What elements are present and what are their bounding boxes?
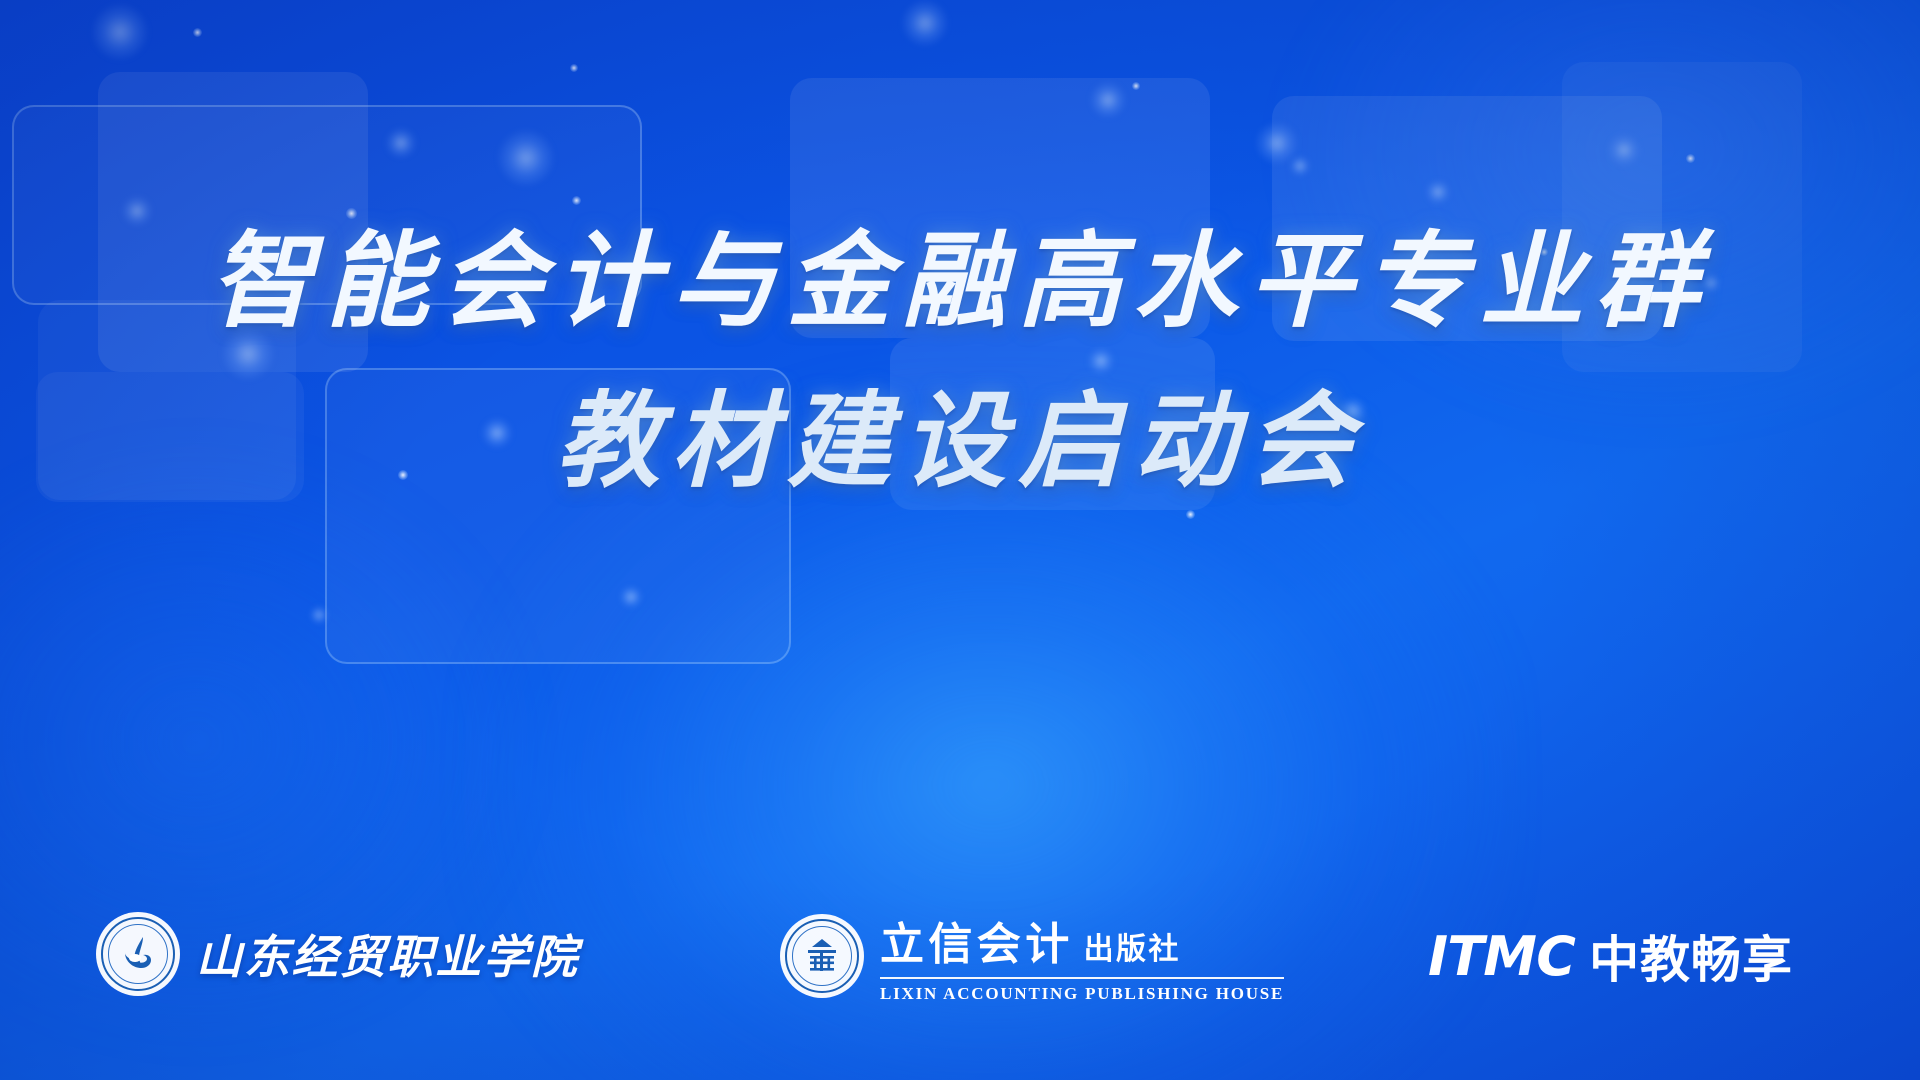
lixin-press-seal-icon xyxy=(780,914,864,998)
page-title: 智能会计与金融高水平专业群 教材建设启动会 xyxy=(0,218,1920,508)
logo-itmc-mark: ITMC xyxy=(1428,925,1575,988)
title-slide: 智能会计与金融高水平专业群 教材建设启动会 山东经贸职业学院 xyxy=(0,0,1920,1080)
logo-press-name-cn: 立信会计 出版社 xyxy=(880,908,1284,972)
logo-itmc: ITMC 中教畅享 xyxy=(1428,920,1793,992)
logo-press-name-main: 立信会计 xyxy=(880,908,1074,972)
logo-itmc-name: 中教畅享 xyxy=(1589,920,1793,992)
logo-school-name: 山东经贸职业学院 xyxy=(196,921,579,987)
logo-press-divider xyxy=(880,977,1284,979)
shandong-college-seal-icon xyxy=(96,912,180,996)
logo-press: 立信会计 出版社 LIXIN ACCOUNTING PUBLISHING HOU… xyxy=(780,908,1284,1004)
logo-press-text: 立信会计 出版社 LIXIN ACCOUNTING PUBLISHING HOU… xyxy=(880,908,1284,1004)
logo-press-name-sub: 出版社 xyxy=(1084,924,1181,968)
logo-press-name-en: LIXIN ACCOUNTING PUBLISHING HOUSE xyxy=(880,984,1284,1004)
footer-logo-bar: 山东经贸职业学院 立信会计 xyxy=(0,906,1920,1026)
title-line-1: 智能会计与金融高水平专业群 xyxy=(0,218,1920,345)
title-line-2: 教材建设启动会 xyxy=(0,373,1920,508)
logo-school: 山东经贸职业学院 xyxy=(96,912,579,996)
